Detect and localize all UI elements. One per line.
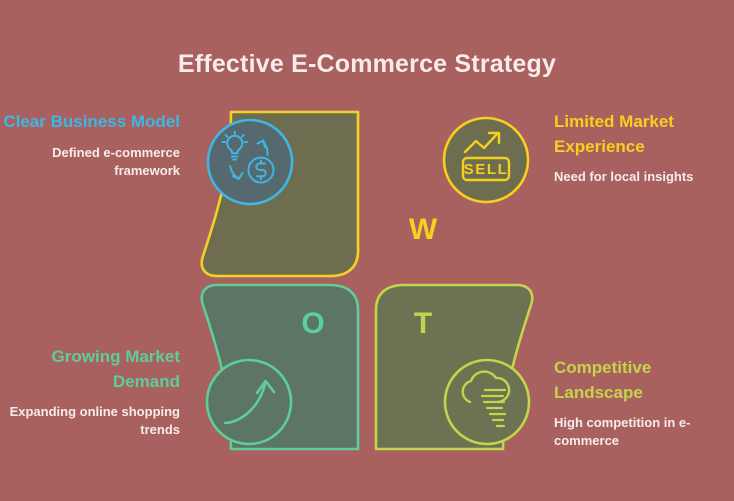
letter-t: T <box>414 307 432 340</box>
quadrant-text-weaknesses: Limited Market Experience Need for local… <box>554 110 734 186</box>
icon-badge-strengths[interactable] <box>208 120 292 204</box>
quadrant-text-threats: Competitive Landscape High competition i… <box>554 356 734 451</box>
swot-infographic: Effective E-Commerce Strategy Clear Busi… <box>0 0 734 501</box>
icon-badge-weaknesses[interactable]: SELL <box>444 118 528 202</box>
icon-badge-threats[interactable] <box>445 360 529 444</box>
icon-badge-opportunities[interactable] <box>207 360 291 444</box>
letter-w: W <box>409 213 438 246</box>
strengths-description: Defined e-commerce framework <box>0 144 180 180</box>
letter-o: O <box>301 307 324 340</box>
opportunities-heading: Growing Market Demand <box>0 345 180 394</box>
opportunities-description: Expanding online shopping trends <box>0 403 180 439</box>
swot-quadrant-graphic: S W O T <box>197 108 537 453</box>
quadrant-text-opportunities: Growing Market Demand Expanding online s… <box>0 345 197 440</box>
weaknesses-heading: Limited Market Experience <box>554 110 734 159</box>
threats-description: High competition in e-commerce <box>554 414 734 450</box>
quadrant-text-strengths: Clear Business Model Defined e-commerce … <box>0 110 197 180</box>
threats-heading: Competitive Landscape <box>554 356 734 405</box>
strengths-heading: Clear Business Model <box>0 110 180 135</box>
sell-badge-label: SELL <box>464 161 509 178</box>
page-title: Effective E-Commerce Strategy <box>0 50 734 79</box>
weaknesses-description: Need for local insights <box>554 168 734 186</box>
